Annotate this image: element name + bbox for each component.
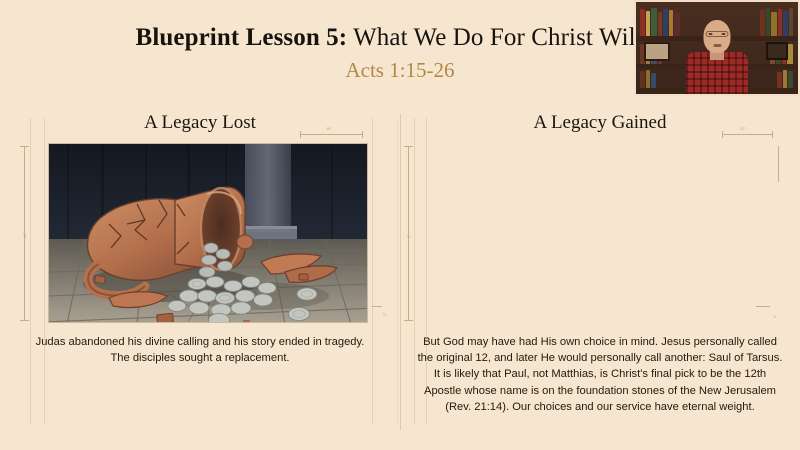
- column-legacy-lost: A Legacy Lost 14" 16" 2": [0, 110, 400, 450]
- column-heading-left: A Legacy Lost: [0, 110, 400, 134]
- dimension-line-left-top: [300, 134, 362, 135]
- illustration-frame-left: [48, 143, 368, 323]
- presenter-mouth: [713, 44, 721, 47]
- framed-picture-right: [766, 42, 788, 60]
- dimension-line-left-lower: [372, 306, 382, 307]
- dimension-text-right-lower: 2": [772, 314, 777, 318]
- blueprint-guide-right-inner: [372, 118, 373, 424]
- dimension-text-right-vertical: 4": [406, 234, 411, 238]
- framed-picture-left: [644, 42, 670, 61]
- column-divider: [400, 114, 401, 430]
- dimension-line-right-top: [722, 134, 772, 135]
- title-lesson-label: Blueprint Lesson 5:: [136, 24, 348, 51]
- presenter-head: [704, 20, 731, 53]
- books-row-bottom-left: [640, 70, 657, 88]
- dimension-line-right-lower: [756, 306, 770, 307]
- dimension-text-left-vertical: 14": [22, 232, 27, 238]
- caption-right: But God may have had His own choice in m…: [400, 334, 800, 415]
- broken-jar-scene-svg: [49, 144, 368, 323]
- column-legacy-gained: A Legacy Gained 4" 12" 2": [400, 110, 800, 450]
- presenter-eyeglasses: [706, 31, 729, 37]
- title-main-text: What We Do For Christ Will L: [347, 24, 664, 51]
- presenter-video-overlay[interactable]: [634, 0, 800, 96]
- dimension-line-right-edge: [778, 146, 779, 182]
- caption-left: Judas abandoned his divine calling and h…: [0, 334, 400, 366]
- dimension-text-left-lower: 2": [382, 312, 387, 316]
- blueprint-guide-left-inner: [44, 118, 45, 424]
- dimension-text-right-top: 12": [740, 126, 746, 131]
- dimension-line-right-vertical: [408, 146, 409, 320]
- books-row-top-right: [760, 8, 794, 36]
- illustration-broken-jar-and-coins: [48, 143, 368, 323]
- blueprint-guide-left-vertical: [30, 118, 31, 424]
- presenter-figure: [686, 20, 748, 94]
- dimension-text-left-top: 16": [326, 126, 332, 131]
- books-row-top-left: [640, 8, 681, 36]
- books-row-bottom-right: [777, 70, 794, 88]
